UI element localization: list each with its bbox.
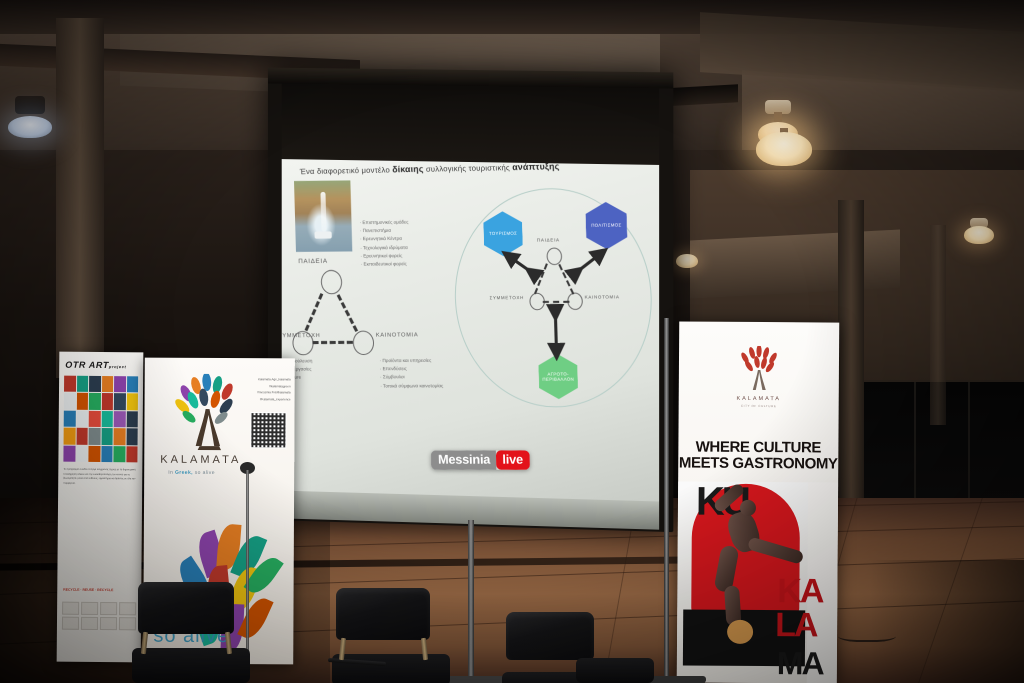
conference-hall-photo: Ένα διαφορετικό μοντέλο δίκαιης συλλογικ…	[0, 0, 1024, 683]
pendant-lamp-icon	[752, 128, 816, 176]
screen-stand-pole	[468, 520, 474, 683]
otr-sponsor-logos	[62, 602, 136, 655]
watermark-messinia-live: Messinia live	[431, 450, 531, 469]
qr-code-icon	[250, 412, 286, 448]
screen-dark-area	[282, 84, 659, 165]
diagram-arrows	[282, 159, 659, 500]
concrete-pillar	[930, 225, 946, 425]
banner-right-poster-art: KU KA LA MA	[677, 481, 838, 683]
concrete-pillar	[56, 18, 104, 378]
poster-type-ma: MA	[777, 650, 823, 677]
watermark-live: live	[496, 450, 530, 469]
otr-art-title: OTR ARTproject	[65, 360, 126, 371]
banner-right-brand-sub: CITY OF CULTURE	[679, 403, 839, 408]
banner-where-culture-meets-gastronomy: KALAMATA CITY OF CULTURE WHERE CULTURE M…	[677, 321, 840, 683]
floor-cable	[838, 628, 896, 642]
ceiling-lamp-icon	[0, 96, 60, 150]
projection-screen: Ένα διαφορετικό μοντέλο δίκαιης συλλογικ…	[268, 68, 673, 533]
kalamata-red-tree-logo-icon	[735, 346, 783, 394]
slide-surface: Ένα διαφορετικό μοντέλο δίκαιης συλλογικ…	[282, 159, 659, 501]
banner-stand-pole	[664, 318, 669, 683]
chair-1	[132, 582, 264, 683]
otr-art-grid	[63, 376, 138, 463]
kalamata-tagline: In Greek, so alive	[168, 470, 215, 476]
chair-4	[576, 658, 656, 683]
banner-right-brand: KALAMATA	[679, 395, 839, 402]
distant-lamp-icon	[958, 218, 1000, 256]
kalamata-wordmark: KALAMATA	[160, 454, 241, 466]
concrete-pillar	[838, 200, 864, 530]
poster-type-ka: KA	[777, 578, 822, 606]
ceiling-duct	[690, 229, 900, 298]
watermark-messinia: Messinia	[431, 450, 497, 469]
otr-art-body-text: Το πρόγραμμα συνδέει τα έργα σύγχρονης τ…	[62, 468, 137, 589]
banner-right-headline: WHERE CULTURE MEETS GASTRONOMY	[678, 439, 838, 472]
presentation-slide: Ένα διαφορετικό μοντέλο δίκαιης συλλογικ…	[282, 159, 659, 500]
distant-lamp-icon	[672, 250, 702, 276]
kalamata-hashtags: Kalamata.Age_kalamata #kalamatagreen #me…	[243, 376, 291, 403]
kalamata-tree-logo-icon	[170, 374, 248, 454]
otr-recycle-text: RECYCLE · REUSE · RECYCLE	[63, 588, 113, 592]
banner-otr-art: OTR ARTproject Το πρόγραμμα συνδέει τα έ…	[57, 352, 144, 663]
poster-type-la: LA	[775, 612, 817, 640]
chair-2	[332, 588, 464, 683]
floor-shadow	[870, 560, 1024, 683]
